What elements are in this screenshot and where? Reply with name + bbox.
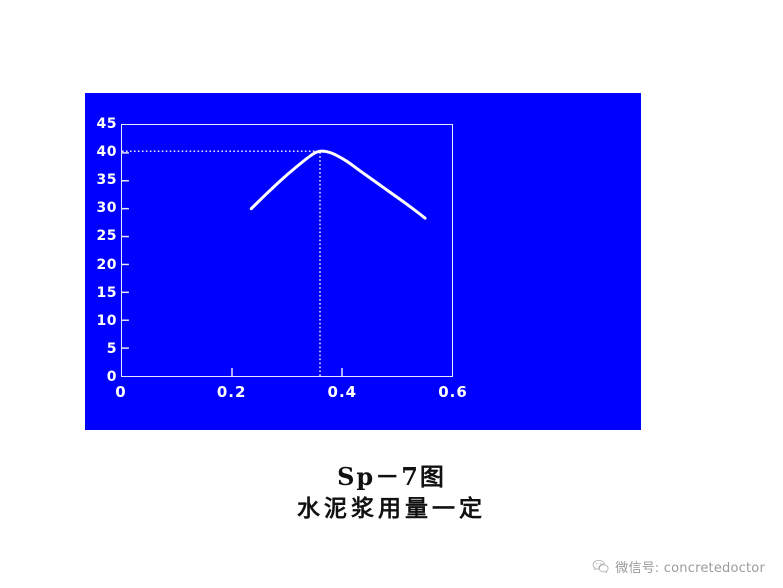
x-tick-label: 0 xyxy=(91,385,151,400)
axis-ticks xyxy=(122,153,342,376)
plot-frame xyxy=(121,124,453,377)
x-tick-label: 0.6 xyxy=(423,385,483,400)
y-tick-label: 20 xyxy=(87,258,117,272)
y-tick-label: 0 xyxy=(87,370,117,384)
chart-panel: 454035302520151050 00.20.40.6 xyxy=(85,93,641,430)
plot-svg xyxy=(122,125,452,376)
y-tick-label: 35 xyxy=(87,173,117,187)
footer-watermark: 微信号: concretedoctor xyxy=(0,552,783,580)
y-tick-label: 45 xyxy=(87,117,117,131)
y-tick-label: 10 xyxy=(87,314,117,328)
footer-wechat-id: 微信号: concretedoctor xyxy=(615,557,765,576)
x-tick-label: 0.4 xyxy=(312,385,372,400)
data-curve xyxy=(251,151,425,218)
guide-lines xyxy=(122,151,320,376)
x-axis-tick-labels: 00.20.40.6 xyxy=(121,385,453,409)
y-tick-label: 40 xyxy=(87,145,117,159)
x-tick-label: 0.2 xyxy=(202,385,262,400)
y-tick-label: 5 xyxy=(87,342,117,356)
y-tick-label: 15 xyxy=(87,286,117,300)
caption-figure-number: Sp－7图 xyxy=(0,462,783,492)
slide-canvas: 454035302520151050 00.20.40.6 Sp－7图 水泥浆用… xyxy=(0,0,783,588)
y-tick-label: 30 xyxy=(87,201,117,215)
caption-description: 水泥浆用量一定 xyxy=(0,494,783,524)
y-tick-label: 25 xyxy=(87,229,117,243)
wechat-icon xyxy=(592,559,609,574)
y-axis-tick-labels: 454035302520151050 xyxy=(85,124,117,377)
caption-block: Sp－7图 水泥浆用量一定 xyxy=(0,462,783,524)
